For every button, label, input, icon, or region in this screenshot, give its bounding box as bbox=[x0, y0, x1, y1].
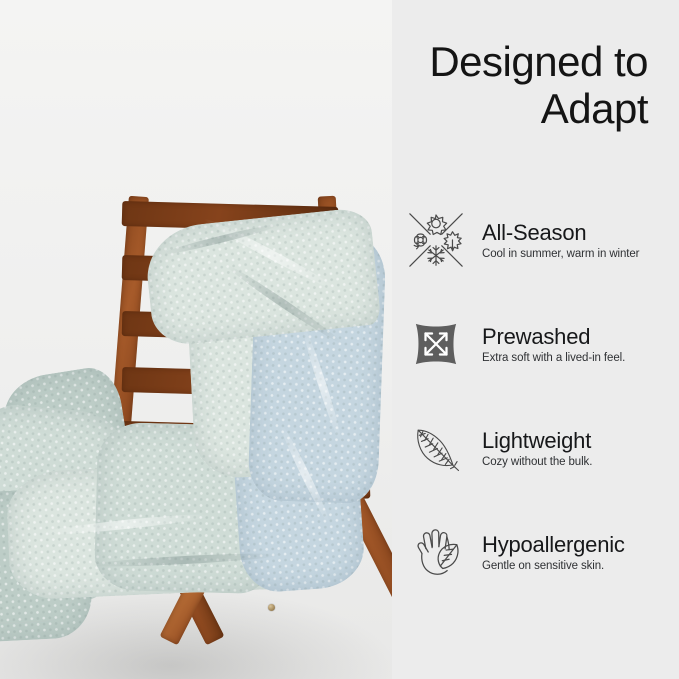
feature-title: All-Season bbox=[482, 220, 679, 245]
feature-item-lightweight: Lightweight Cozy without the bulk. bbox=[394, 396, 679, 500]
feature-item-hypoallergenic: Hypoallergenic Gentle on sensitive skin. bbox=[394, 500, 679, 604]
info-panel: Designed to Adapt bbox=[392, 0, 679, 679]
feature-list: All-Season Cool in summer, warm in winte… bbox=[394, 188, 679, 604]
feature-text: Hypoallergenic Gentle on sensitive skin. bbox=[482, 530, 679, 574]
feature-subtitle: Extra soft with a lived-in feel. bbox=[482, 352, 679, 366]
feature-text: Lightweight Cozy without the bulk. bbox=[482, 426, 679, 470]
hand-leaf-icon bbox=[400, 516, 472, 588]
prewashed-pillow-arrows-icon bbox=[400, 308, 472, 380]
feature-text: Prewashed Extra soft with a lived-in fee… bbox=[482, 322, 679, 366]
feature-item-all-season: All-Season Cool in summer, warm in winte… bbox=[394, 188, 679, 292]
feature-item-prewashed: Prewashed Extra soft with a lived-in fee… bbox=[394, 292, 679, 396]
photo-scene bbox=[0, 0, 392, 679]
feather-icon bbox=[400, 412, 472, 484]
product-photo bbox=[0, 0, 392, 679]
feature-subtitle: Gentle on sensitive skin. bbox=[482, 560, 679, 574]
feature-title: Hypoallergenic bbox=[482, 532, 679, 557]
feature-text: All-Season Cool in summer, warm in winte… bbox=[482, 218, 679, 262]
feature-title: Prewashed bbox=[482, 324, 679, 349]
product-infographic: Designed to Adapt bbox=[0, 0, 679, 679]
four-seasons-icon bbox=[400, 204, 472, 276]
page-title: Designed to Adapt bbox=[388, 38, 648, 132]
feature-subtitle: Cozy without the bulk. bbox=[482, 456, 679, 470]
chair-screw bbox=[268, 604, 275, 611]
feature-subtitle: Cool in summer, warm in winter bbox=[482, 248, 679, 262]
feature-title: Lightweight bbox=[482, 428, 679, 453]
